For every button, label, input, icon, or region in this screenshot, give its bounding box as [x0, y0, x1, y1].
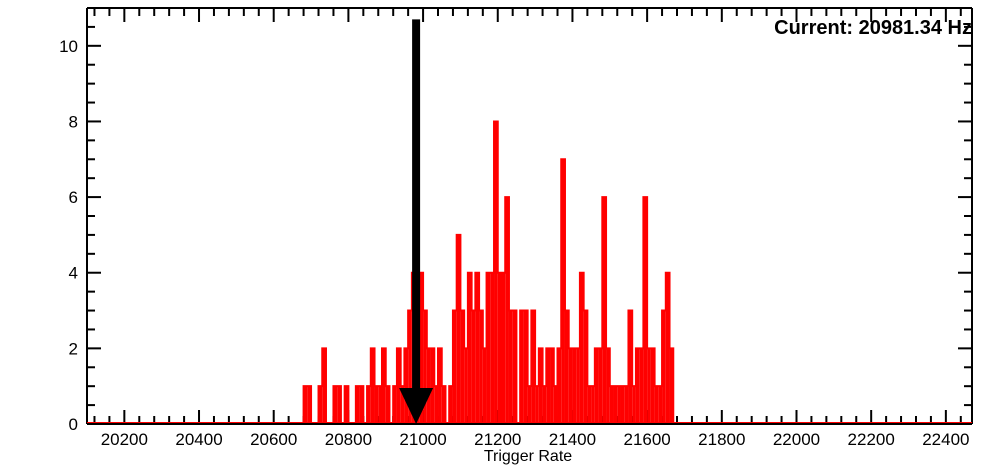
histogram-bar: [655, 386, 659, 424]
histogram-bar: [498, 273, 502, 424]
histogram-bar: [591, 386, 595, 424]
current-rate-readout: Current: 20981.34 Hz: [774, 17, 972, 40]
histogram-bar: [554, 386, 558, 424]
histogram-bar: [509, 311, 513, 424]
histogram-bar: [535, 386, 539, 424]
x-tick-label: 22200: [848, 430, 895, 449]
histogram-bar: [472, 311, 476, 424]
histogram-plot: 0246810 20200204002060020800210002120021…: [0, 0, 996, 472]
histogram-bar: [569, 348, 573, 424]
x-tick-label: 22000: [773, 430, 820, 449]
y-tick-label: 0: [69, 415, 78, 434]
histogram-series: [87, 121, 972, 424]
histogram-bar: [640, 348, 644, 424]
histogram-bar: [610, 386, 614, 424]
x-tick-label: 20600: [250, 430, 297, 449]
y-tick-label: 6: [69, 188, 78, 207]
histogram-bar: [464, 348, 468, 424]
histogram-bar: [378, 386, 382, 424]
y-tick-label: 10: [59, 37, 78, 56]
root-canvas: 0246810 20200204002060020800210002120021…: [0, 0, 996, 472]
histogram-bar: [625, 386, 629, 424]
histogram-bar: [375, 386, 379, 424]
histogram-bar: [617, 386, 621, 424]
histogram-bar: [528, 386, 532, 424]
x-tick-label: 20800: [325, 430, 372, 449]
x-axis-title: Trigger Rate: [484, 448, 572, 465]
x-tick-label: 21400: [549, 430, 596, 449]
histogram-bar: [427, 348, 431, 424]
histogram-bar: [490, 273, 494, 424]
histogram-bar: [614, 386, 618, 424]
histogram-bar: [572, 348, 576, 424]
histogram-bar: [483, 348, 487, 424]
histogram-bar: [647, 348, 651, 424]
x-tick-label: 21000: [399, 430, 446, 449]
y-tick-label: 4: [69, 264, 78, 283]
histogram-bar: [621, 386, 625, 424]
histogram-bar: [658, 386, 662, 424]
plot-frame: [87, 8, 972, 424]
x-tick-label: 21600: [623, 430, 670, 449]
y-tick-label: 2: [69, 339, 78, 358]
x-tick-label: 20200: [101, 430, 148, 449]
histogram-bar: [543, 386, 547, 424]
x-tick-label: 22400: [922, 430, 969, 449]
y-tick-label: 8: [69, 112, 78, 131]
histogram-bar: [587, 386, 591, 424]
x-tick-label: 21800: [698, 430, 745, 449]
histogram-bar: [632, 386, 636, 424]
histogram-bar: [434, 386, 438, 424]
histogram-bar: [501, 273, 505, 424]
histogram-bar: [599, 348, 603, 424]
x-tick-label: 20400: [175, 430, 222, 449]
x-tick-label: 21200: [474, 430, 521, 449]
histogram-bar: [576, 348, 580, 424]
